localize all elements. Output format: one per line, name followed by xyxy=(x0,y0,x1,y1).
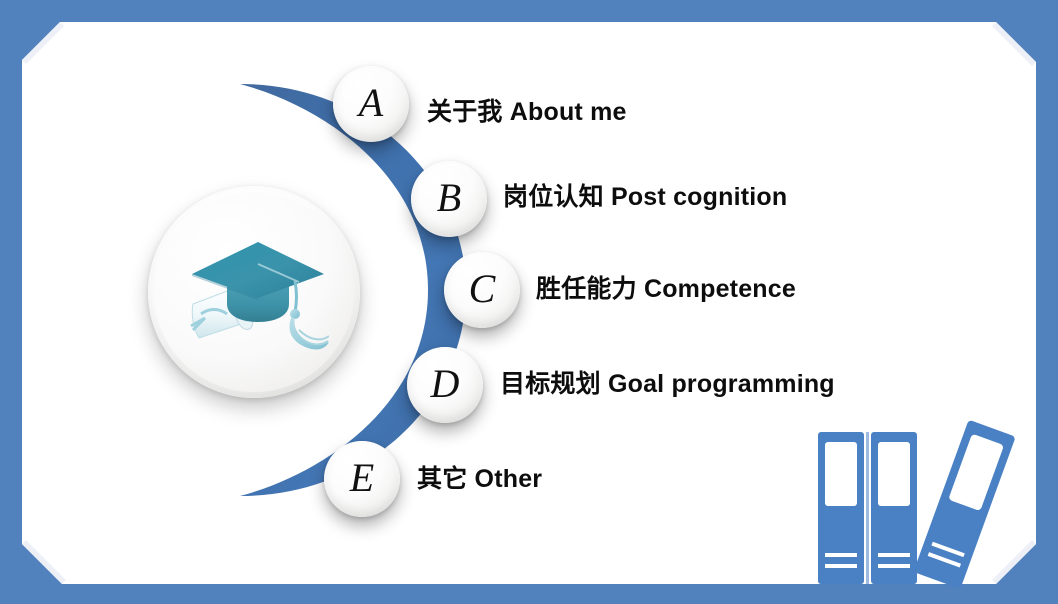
agenda-bullet-d[interactable]: D xyxy=(407,347,483,423)
agenda-label-e[interactable]: 其它 Other xyxy=(417,467,542,492)
agenda-label-c[interactable]: 胜任能力 Competence xyxy=(536,277,796,302)
agenda-bullet-letter: D xyxy=(431,364,460,404)
agenda-bullet-letter: A xyxy=(359,83,383,123)
emblem-circle xyxy=(148,186,360,398)
graduation-cap-icon xyxy=(148,186,360,398)
agenda-bullet-letter: B xyxy=(437,178,461,218)
agenda-bullet-letter: E xyxy=(350,458,374,498)
agenda-bullet-e[interactable]: E xyxy=(324,441,400,517)
agenda-bullet-b[interactable]: B xyxy=(411,161,487,237)
agenda-bullet-letter: C xyxy=(469,269,496,309)
agenda-label-d[interactable]: 目标规划 Goal programming xyxy=(500,372,835,397)
agenda-label-b[interactable]: 岗位认知 Post cognition xyxy=(503,185,787,210)
agenda-bullet-a[interactable]: A xyxy=(333,66,409,142)
agenda-label-a[interactable]: 关于我 About me xyxy=(427,100,627,125)
agenda-bullet-c[interactable]: C xyxy=(444,252,520,328)
slide-canvas: A B C D E 关于我 About me 岗位认知 Post cogniti… xyxy=(0,0,1058,604)
books-icon xyxy=(800,408,1058,604)
